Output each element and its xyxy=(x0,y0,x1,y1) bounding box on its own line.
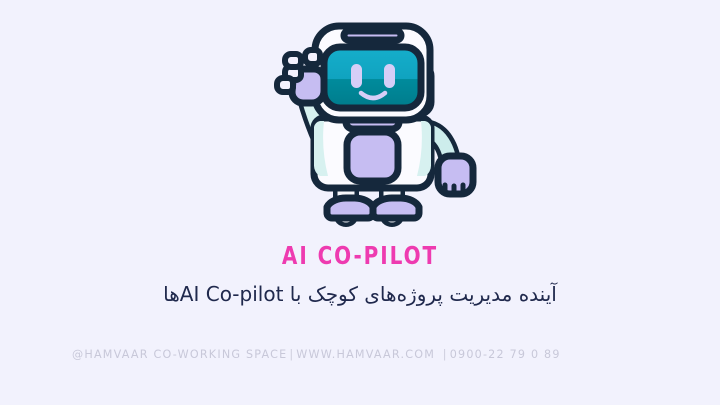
footer-handle: @HAMVAAR CO-WORKING SPACE xyxy=(72,347,287,361)
poster-canvas: AI CO-PILOT آینده مدیریت پروژه‌های کوچک … xyxy=(0,0,720,405)
footer-bar: @HAMVAAR CO-WORKING SPACE|WWW.HAMVAAR.CO… xyxy=(0,338,720,372)
left-foot xyxy=(327,198,373,218)
right-eye xyxy=(384,64,395,88)
right-foot xyxy=(373,198,419,218)
waving-robot-mascot xyxy=(255,8,490,240)
footer-phone[interactable]: 0900-22 79 0 89 xyxy=(450,347,561,361)
left-eye xyxy=(351,64,362,88)
chest-panel xyxy=(347,132,398,181)
antenna-bar xyxy=(344,31,401,40)
page-title: AI CO-PILOT xyxy=(72,243,648,268)
waving-hand xyxy=(277,50,324,103)
footer-website[interactable]: WWW.HAMVAAR.COM xyxy=(296,347,435,361)
right-hand xyxy=(438,156,473,194)
footer-separator-1: | xyxy=(287,347,296,361)
subtitle: آینده مدیریت پروژه‌های کوچک با AI Co-pil… xyxy=(0,281,720,308)
footer-contact-line: @HAMVAAR CO-WORKING SPACE|WWW.HAMVAAR.CO… xyxy=(72,345,561,363)
